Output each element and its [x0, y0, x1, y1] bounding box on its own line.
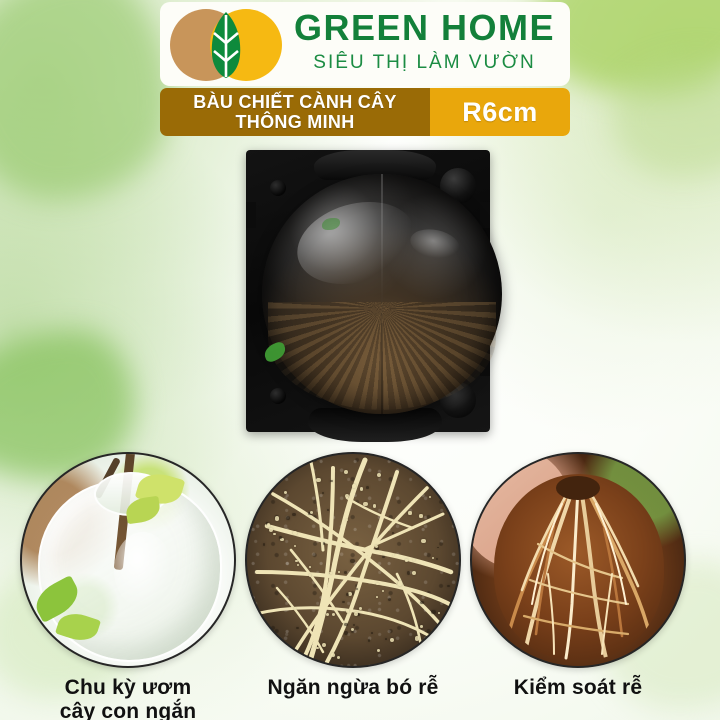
feature-caption: Kiểm soát rễ	[468, 676, 688, 700]
soil-rootball-photo	[245, 452, 461, 668]
soil-speck	[373, 504, 376, 507]
product-poster: GREEN HOME SIÊU THỊ LÀM VƯỜN BÀU CHIẾT C…	[0, 0, 720, 720]
soil-speck	[408, 511, 411, 514]
soil-speck	[407, 571, 410, 574]
soil-speck	[366, 486, 369, 489]
product-title: BÀU CHIẾT CÀNH CÂY THÔNG MINH	[160, 88, 430, 136]
photo-glare	[114, 532, 172, 608]
product-base-plate	[246, 150, 490, 432]
soil-speck	[392, 532, 394, 534]
soil-speck	[323, 542, 325, 544]
propagation-ball-on-branch-photo	[20, 452, 236, 668]
soil-speck	[316, 478, 320, 482]
hand-holding-rootball-photo	[470, 452, 686, 668]
product-title-line2: THÔNG MINH	[236, 112, 355, 132]
soil-speck	[309, 566, 311, 568]
soil-speck	[331, 653, 335, 657]
soil-speck	[348, 592, 352, 596]
soil-speck	[377, 473, 381, 477]
soil-speck	[429, 496, 431, 498]
logo-leaf-icon	[210, 11, 242, 79]
soil-speck	[279, 536, 282, 539]
rootball-shape	[494, 474, 664, 660]
soil-speck	[351, 628, 354, 631]
soil-speck	[344, 470, 348, 474]
feature-caption: Chu kỳ ươm cây con ngắn	[18, 676, 238, 720]
feature-item: Kiểm soát rễ	[468, 452, 688, 700]
soil-speck	[309, 574, 312, 577]
plate-hole	[270, 180, 286, 196]
soil-speck	[420, 625, 423, 628]
soil-speck	[419, 514, 422, 517]
product-title-bar: BÀU CHIẾT CÀNH CÂY THÔNG MINH R6cm	[160, 88, 570, 136]
soil-speck	[344, 623, 348, 627]
soil-speck	[344, 571, 347, 574]
soil-speck	[382, 556, 384, 558]
soil-speck	[436, 558, 438, 560]
product-title-line1: BÀU CHIẾT CÀNH CÂY	[193, 92, 396, 112]
brand-tagline: SIÊU THỊ LÀM VƯỜN	[294, 49, 555, 78]
feature-caption-line2: cây con ngắn	[60, 700, 197, 720]
soil-speck	[342, 601, 344, 603]
product-photo	[232, 142, 504, 440]
soil-speck	[263, 543, 265, 545]
soil-speck	[346, 519, 348, 521]
soil-speck	[346, 609, 349, 612]
soil-speck	[273, 533, 275, 535]
soil-speck	[381, 553, 383, 555]
soil-speck	[286, 516, 290, 520]
soil-speck	[371, 632, 373, 634]
brand-logo-icon	[166, 5, 286, 83]
leaf-bokeh-icon	[612, 58, 720, 178]
propagation-sphere	[262, 174, 502, 414]
soil-speck	[296, 627, 298, 629]
brand-header-card: GREEN HOME SIÊU THỊ LÀM VƯỜN	[160, 2, 570, 86]
soil-speck	[415, 636, 419, 640]
feature-row: Chu kỳ ươm cây con ngắn	[0, 452, 720, 720]
plate-notch	[246, 202, 256, 228]
size-badge: R6cm	[430, 88, 570, 136]
soil-speck	[376, 596, 378, 598]
soil-speck	[363, 502, 367, 506]
feature-caption-line1: Chu kỳ ươm	[65, 676, 192, 699]
soil-speck	[360, 487, 364, 491]
plate-notch	[480, 202, 490, 228]
soil-speck	[297, 564, 299, 566]
soil-speck	[275, 516, 279, 520]
sphere-highlight	[288, 189, 425, 297]
feature-caption: Ngăn ngừa bó rễ	[243, 676, 463, 700]
feature-item: Chu kỳ ươm cây con ngắn	[18, 452, 238, 720]
soil-speck	[346, 593, 349, 596]
soil-speck	[267, 523, 270, 526]
feature-item: Ngăn ngừa bó rễ	[243, 452, 463, 700]
soil-speck	[284, 491, 287, 494]
soil-speck	[377, 649, 380, 652]
soil-speck	[352, 484, 356, 488]
soil-speck	[385, 638, 387, 640]
red-roots-overlay	[494, 474, 664, 660]
soil-speck	[431, 610, 435, 614]
feature-caption-line1: Ngăn ngừa bó rễ	[267, 676, 438, 699]
plate-notch	[246, 350, 256, 376]
leaf-bokeh-icon	[0, 0, 170, 200]
soil-speck	[375, 545, 378, 548]
feature-caption-line1: Kiểm soát rễ	[514, 676, 642, 699]
soil-speck	[421, 539, 425, 543]
soil-speck	[354, 612, 358, 616]
sphere-highlight	[408, 225, 463, 263]
brand-text-block: GREEN HOME SIÊU THỊ LÀM VƯỜN	[294, 10, 555, 78]
soil-speck	[356, 588, 358, 590]
soil-speck	[376, 583, 378, 585]
soil-speck	[432, 557, 434, 559]
brand-name: GREEN HOME	[294, 10, 555, 46]
soil-speck	[293, 531, 297, 535]
soil-speck	[269, 528, 273, 532]
plate-hole	[270, 388, 286, 404]
soil-speck	[330, 480, 332, 482]
